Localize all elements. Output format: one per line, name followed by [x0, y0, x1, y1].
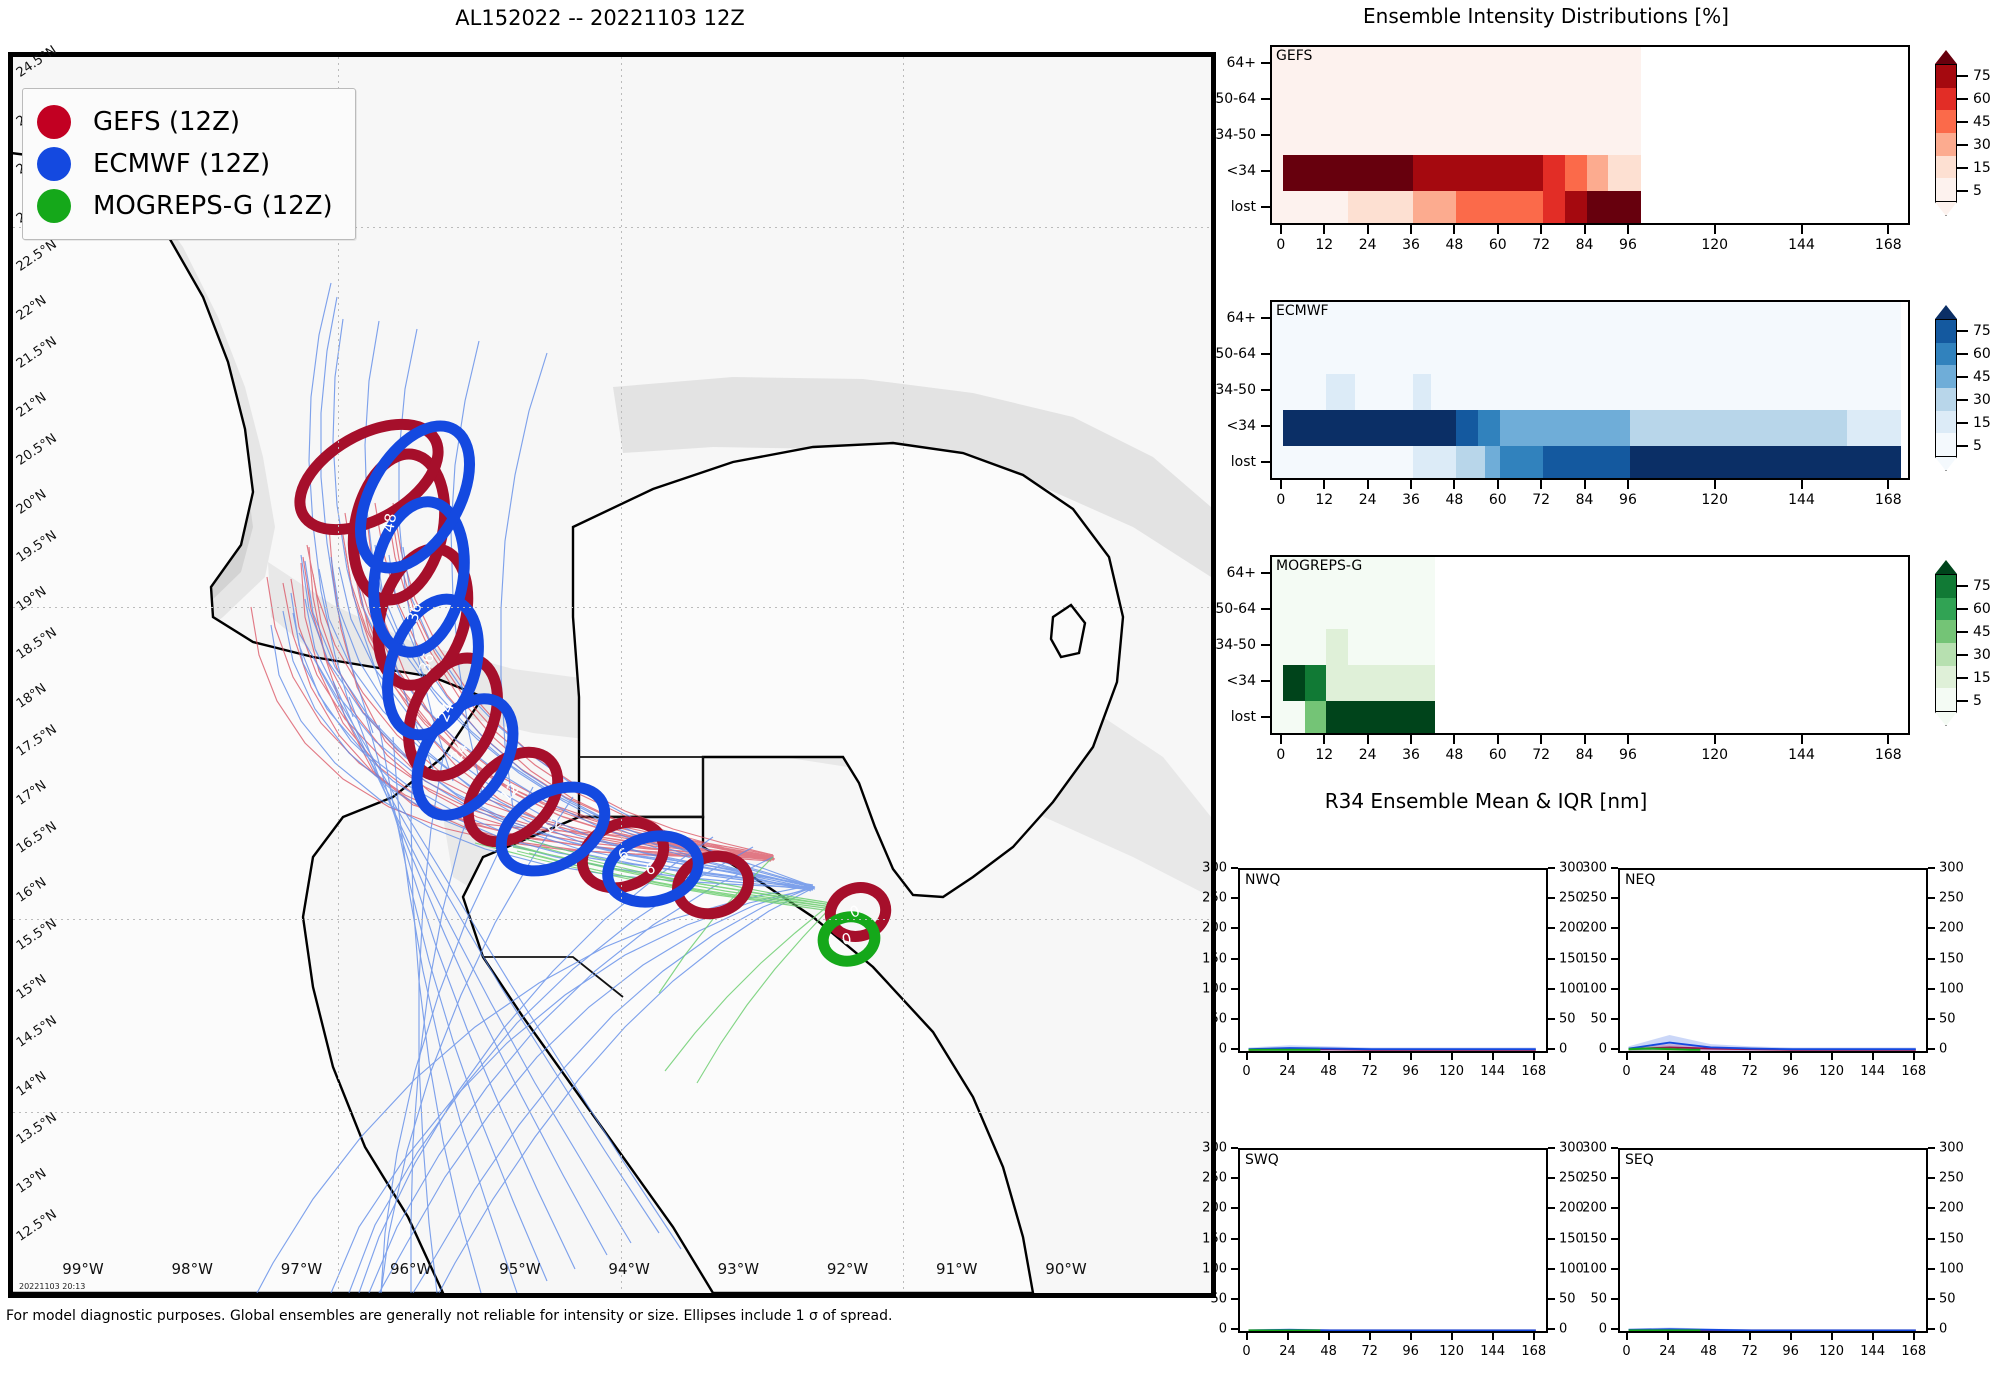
heatmap-cell — [1283, 155, 1326, 191]
colorbar-tick — [1957, 353, 1968, 355]
colorbar-segment — [1936, 620, 1956, 643]
r34-x-tick — [1708, 1053, 1710, 1060]
colorbar-segment — [1936, 411, 1956, 434]
x-axis-label: 48 — [1445, 747, 1463, 763]
x-axis-tick — [1410, 225, 1412, 234]
heatmap-cell — [1456, 446, 1485, 480]
r34-y-tick — [1611, 1298, 1618, 1300]
heatmap-cell — [1587, 410, 1630, 446]
r34-x-label: 48 — [1700, 1064, 1717, 1079]
colorbar-tick — [1957, 585, 1968, 587]
heatmap-cell — [1478, 410, 1500, 446]
map-gridline-horizontal — [13, 919, 1211, 920]
r34-y-label: 0 — [1559, 1042, 1567, 1057]
r34-y-label: 300 — [1559, 861, 1584, 876]
colorbar-gefs: 75604530155 — [1935, 50, 1995, 216]
heatmap-cell — [1348, 191, 1370, 225]
y-axis-tick — [1261, 206, 1270, 208]
r34-y-label: 300 — [1939, 1141, 1964, 1156]
r34-y-label: 200 — [1582, 921, 1607, 936]
r34-y-tick — [1928, 1207, 1935, 1209]
heatmap-cell — [1847, 410, 1901, 446]
x-axis-label: 12 — [1315, 237, 1333, 253]
r34-x-tick — [1626, 1333, 1628, 1340]
heatmap-cell — [1485, 446, 1499, 480]
r34-y-tick — [1928, 1238, 1935, 1240]
r34-y-label: 250 — [1202, 891, 1227, 906]
y-axis-label: <34 — [1226, 163, 1256, 179]
heatmap-cell — [1565, 155, 1587, 191]
colorbar-segment — [1936, 388, 1956, 411]
heatmap-cell — [1717, 410, 1804, 446]
y-axis-label: 64+ — [1226, 310, 1256, 326]
colorbar-segment — [1936, 65, 1956, 88]
r34-y-label: 50 — [1590, 1011, 1607, 1026]
r34-x-label: 120 — [1819, 1344, 1844, 1359]
r34-y-label: 0 — [1599, 1042, 1607, 1057]
x-axis-tick — [1280, 735, 1282, 744]
heatmap-cell — [1283, 410, 1326, 446]
x-axis-tick — [1410, 480, 1412, 489]
colorbar-segment — [1936, 88, 1956, 111]
heatmap-cell — [1337, 374, 1355, 410]
r34-y-tick — [1928, 988, 1935, 990]
panel-model-label: GEFS — [1276, 48, 1312, 64]
r34-y-label: 300 — [1202, 861, 1227, 876]
r34-x-label: 48 — [1700, 1344, 1717, 1359]
r34-x-label: 72 — [1361, 1344, 1378, 1359]
x-axis-label: 120 — [1701, 492, 1728, 508]
r34-y-label: 250 — [1559, 891, 1584, 906]
colorbar-segment — [1936, 365, 1956, 388]
map-lon-tick: 94°W — [608, 1260, 649, 1278]
colorbar-tick — [1957, 98, 1968, 100]
r34-y-label: 50 — [1939, 1291, 1956, 1306]
x-axis-label: 24 — [1359, 237, 1377, 253]
colorbar-mogreps-g: 75604530155 — [1935, 560, 1995, 726]
y-axis-tick — [1261, 680, 1270, 682]
r34-series-graphics — [1620, 870, 1926, 1051]
r34-quadrant-label: NEQ — [1625, 872, 1655, 888]
r34-y-label: 100 — [1939, 1261, 1964, 1276]
r34-y-tick — [1231, 1147, 1238, 1149]
r34-x-tick — [1451, 1333, 1453, 1340]
r34-y-tick — [1611, 988, 1618, 990]
r34-y-tick — [1231, 1177, 1238, 1179]
r34-x-tick — [1749, 1333, 1751, 1340]
panel-no-data-region — [1435, 557, 1910, 735]
heatmap-cell — [1587, 191, 1630, 225]
colorbar-tick — [1957, 399, 1968, 401]
y-axis-label: 50-64 — [1215, 346, 1256, 362]
r34-x-label: 48 — [1320, 1064, 1337, 1079]
r34-y-tick — [1548, 1018, 1555, 1020]
x-axis-tick — [1627, 735, 1629, 744]
r34-y-label: 50 — [1210, 1011, 1227, 1026]
r34-y-tick — [1611, 1207, 1618, 1209]
x-axis-label: 84 — [1576, 237, 1594, 253]
x-axis-tick — [1584, 480, 1586, 489]
colorbar-tick-label: 15 — [1973, 415, 1991, 431]
x-axis-label: 36 — [1402, 492, 1420, 508]
y-axis-label: <34 — [1226, 673, 1256, 689]
r34-y-label: 200 — [1582, 1201, 1607, 1216]
x-axis-tick — [1714, 735, 1716, 744]
y-axis-label: 34-50 — [1215, 127, 1256, 143]
colorbar-segment — [1936, 110, 1956, 133]
r34-x-label: 24 — [1279, 1064, 1296, 1079]
heatmap-cell — [1500, 155, 1543, 191]
map-lon-tick: 95°W — [499, 1260, 540, 1278]
r34-quadrant-label: SEQ — [1625, 1152, 1654, 1168]
x-axis-label: 168 — [1875, 237, 1902, 253]
r34-y-tick — [1548, 1207, 1555, 1209]
y-axis-label: 34-50 — [1215, 382, 1256, 398]
x-axis-label: 60 — [1489, 492, 1507, 508]
r34-y-tick — [1548, 1268, 1555, 1270]
x-axis-tick — [1627, 480, 1629, 489]
heatmap-cell — [1413, 374, 1431, 410]
r34-x-label: 168 — [1901, 1064, 1926, 1079]
x-axis-label: 48 — [1445, 492, 1463, 508]
x-axis-label: 120 — [1701, 237, 1728, 253]
y-axis-tick — [1261, 716, 1270, 718]
colorbar-tick-label: 5 — [1973, 693, 1982, 709]
r34-y-label: 250 — [1202, 1171, 1227, 1186]
x-axis-label: 144 — [1788, 492, 1815, 508]
r34-x-tick — [1872, 1053, 1874, 1060]
colorbar-tick — [1957, 608, 1968, 610]
x-axis-label: 96 — [1619, 237, 1637, 253]
map-lon-tick: 91°W — [936, 1260, 977, 1278]
map-graphics: 0 0 6 6 12 12 24 24 36 36 48 — [13, 57, 1211, 1293]
y-axis-tick — [1261, 317, 1270, 319]
r34-x-label: 0 — [1622, 1344, 1630, 1359]
x-axis-label: 144 — [1788, 237, 1815, 253]
r34-y-label: 300 — [1202, 1141, 1227, 1156]
r34-x-tick — [1492, 1333, 1494, 1340]
colorbar-segment — [1936, 643, 1956, 666]
r34-y-label: 100 — [1202, 981, 1227, 996]
r34-x-label: 0 — [1242, 1344, 1250, 1359]
map-lon-tick: 92°W — [827, 1260, 868, 1278]
x-axis-tick — [1367, 735, 1369, 744]
heatmap-cell — [1804, 410, 1847, 446]
mogreps-color-swatch — [37, 189, 71, 223]
colorbar-segment — [1936, 598, 1956, 621]
r34-series-graphics — [1240, 1150, 1546, 1331]
r34-panel-neq[interactable]: NEQ — [1618, 868, 1928, 1053]
x-axis-label: 12 — [1315, 492, 1333, 508]
model-legend[interactable]: GEFS (12Z) ECMWF (12Z) MOGREPS-G (12Z) — [22, 88, 356, 240]
r34-x-label: 72 — [1741, 1064, 1758, 1079]
colorbar-ecmwf: 75604530155 — [1935, 305, 1995, 471]
heatmap-cell — [1456, 191, 1499, 225]
r34-x-label: 120 — [1439, 1344, 1464, 1359]
r34-series-graphics — [1240, 870, 1546, 1051]
x-axis-label: 24 — [1359, 492, 1377, 508]
r34-x-tick — [1369, 1053, 1371, 1060]
colorbar-segment — [1936, 320, 1956, 343]
r34-y-tick — [1231, 1298, 1238, 1300]
heatmap-cell — [1326, 629, 1348, 665]
legend-item-gefs[interactable]: GEFS (12Z) — [37, 101, 333, 143]
r34-x-label: 144 — [1480, 1064, 1505, 1079]
heatmap-cell — [1500, 410, 1543, 446]
r34-x-label: 96 — [1402, 1064, 1419, 1079]
r34-y-tick — [1231, 988, 1238, 990]
r34-y-label: 200 — [1202, 921, 1227, 936]
r34-y-tick — [1928, 1177, 1935, 1179]
map-lon-tick: 97°W — [281, 1260, 322, 1278]
map-lon-tick: 98°W — [172, 1260, 213, 1278]
colorbar-min-arrow — [1935, 202, 1957, 216]
colorbar-tick-label: 60 — [1973, 91, 1991, 107]
x-axis-label: 48 — [1445, 237, 1463, 253]
intensity-panel-ecmwf[interactable]: ECMWF — [1270, 300, 1910, 480]
r34-x-label: 144 — [1480, 1344, 1505, 1359]
x-axis-label: 0 — [1276, 492, 1285, 508]
x-axis-tick — [1801, 735, 1803, 744]
r34-y-tick — [1231, 1018, 1238, 1020]
heatmap-cell — [1587, 155, 1609, 191]
r34-y-tick — [1231, 958, 1238, 960]
r34-y-tick — [1611, 1177, 1618, 1179]
r34-x-label: 168 — [1901, 1344, 1926, 1359]
r34-y-tick — [1611, 1147, 1618, 1149]
r34-y-tick — [1928, 1298, 1935, 1300]
r34-y-label: 0 — [1939, 1322, 1947, 1337]
x-axis-tick — [1887, 225, 1889, 234]
x-axis-label: 60 — [1489, 237, 1507, 253]
r34-series-graphics — [1620, 1150, 1926, 1331]
r34-y-label: 200 — [1202, 1201, 1227, 1216]
x-axis-tick — [1280, 225, 1282, 234]
svg-text:48: 48 — [379, 512, 400, 534]
legend-item-ecmwf[interactable]: ECMWF (12Z) — [37, 143, 333, 185]
y-axis-label: 50-64 — [1215, 91, 1256, 107]
colorbar-segment — [1936, 343, 1956, 366]
legend-label-mogreps: MOGREPS-G (12Z) — [93, 191, 333, 221]
colorbar-max-arrow — [1935, 50, 1957, 64]
r34-y-tick — [1548, 1328, 1555, 1330]
r34-y-label: 150 — [1202, 951, 1227, 966]
colorbar-tick — [1957, 677, 1968, 679]
r34-y-tick — [1231, 1207, 1238, 1209]
r34-x-tick — [1790, 1053, 1792, 1060]
y-axis-tick — [1261, 353, 1270, 355]
r34-y-label: 250 — [1939, 1171, 1964, 1186]
heatmap-cell — [1326, 191, 1348, 225]
r34-panel-seq[interactable]: SEQ — [1618, 1148, 1928, 1333]
y-axis-label: 50-64 — [1215, 601, 1256, 617]
x-axis-label: 84 — [1576, 747, 1594, 763]
r34-x-label: 24 — [1659, 1344, 1676, 1359]
x-axis-label: 168 — [1875, 492, 1902, 508]
r34-x-tick — [1913, 1053, 1915, 1060]
r34-y-tick — [1611, 897, 1618, 899]
x-axis-tick — [1714, 480, 1716, 489]
y-axis-tick — [1261, 98, 1270, 100]
x-axis-label: 120 — [1701, 747, 1728, 763]
r34-x-label: 72 — [1741, 1344, 1758, 1359]
r34-y-tick — [1928, 1147, 1935, 1149]
r34-x-label: 72 — [1361, 1064, 1378, 1079]
colorbar-tick — [1957, 445, 1968, 447]
r34-x-label: 24 — [1279, 1344, 1296, 1359]
y-axis-tick — [1261, 389, 1270, 391]
intensity-panel-gefs[interactable]: GEFS — [1270, 45, 1910, 225]
r34-y-label: 50 — [1590, 1291, 1607, 1306]
r34-y-tick — [1928, 867, 1935, 869]
panel-no-data-region — [1901, 302, 1910, 480]
heatmap-cell — [1413, 410, 1456, 446]
page-title: AL152022 -- 20221103 12Z — [455, 6, 744, 30]
r34-y-tick — [1928, 1018, 1935, 1020]
x-axis-tick — [1584, 225, 1586, 234]
r34-y-tick — [1611, 1328, 1618, 1330]
r34-x-label: 96 — [1782, 1344, 1799, 1359]
r34-x-label: 144 — [1860, 1344, 1885, 1359]
r34-quadrant-label: SWQ — [1245, 1152, 1279, 1168]
r34-x-tick — [1287, 1053, 1289, 1060]
r34-y-label: 300 — [1582, 861, 1607, 876]
legend-item-mogreps[interactable]: MOGREPS-G (12Z) — [37, 185, 333, 227]
x-axis-tick — [1497, 225, 1499, 234]
r34-x-label: 0 — [1622, 1064, 1630, 1079]
y-axis-tick — [1261, 170, 1270, 172]
r34-y-tick — [1928, 897, 1935, 899]
x-axis-tick — [1323, 735, 1325, 744]
map-lon-tick: 99°W — [62, 1260, 103, 1278]
x-axis-tick — [1367, 225, 1369, 234]
r34-x-label: 96 — [1782, 1064, 1799, 1079]
r34-y-label: 0 — [1599, 1322, 1607, 1337]
x-axis-label: 84 — [1576, 492, 1594, 508]
r34-y-tick — [1611, 1238, 1618, 1240]
map-lon-tick: 90°W — [1045, 1260, 1086, 1278]
r34-x-tick — [1410, 1053, 1412, 1060]
colorbar-max-arrow — [1935, 560, 1957, 574]
r34-panel-nwq[interactable]: NWQ — [1238, 868, 1548, 1053]
r34-y-tick — [1928, 927, 1935, 929]
r34-y-label: 300 — [1939, 861, 1964, 876]
x-axis-label: 0 — [1276, 237, 1285, 253]
x-axis-label: 72 — [1532, 237, 1550, 253]
r34-y-label: 100 — [1559, 1261, 1584, 1276]
x-axis-label: 0 — [1276, 747, 1285, 763]
r34-x-tick — [1790, 1333, 1792, 1340]
colorbar-tick — [1957, 654, 1968, 656]
map-render-timestamp: 20221103 20:13 — [19, 1282, 85, 1291]
colorbar-tick — [1957, 330, 1968, 332]
colorbar-tick-label: 45 — [1973, 624, 1991, 640]
r34-y-label: 250 — [1939, 891, 1964, 906]
heatmap-cell — [1630, 191, 1641, 225]
r34-x-label: 144 — [1860, 1064, 1885, 1079]
colorbar-segment — [1936, 178, 1956, 201]
heatmap-cell — [1413, 446, 1456, 480]
r34-y-tick — [1231, 927, 1238, 929]
r34-y-label: 200 — [1939, 1201, 1964, 1216]
panel-model-label: ECMWF — [1276, 303, 1329, 319]
heatmap-cell — [1543, 191, 1565, 225]
r34-x-tick — [1410, 1333, 1412, 1340]
r34-y-label: 150 — [1202, 1231, 1227, 1246]
r34-y-tick — [1231, 1328, 1238, 1330]
r34-y-tick — [1548, 927, 1555, 929]
map-gridline-vertical — [903, 57, 904, 1293]
r34-panel-swq[interactable]: SWQ — [1238, 1148, 1548, 1333]
x-axis-tick — [1584, 735, 1586, 744]
y-axis-tick — [1261, 644, 1270, 646]
r34-x-label: 24 — [1659, 1064, 1676, 1079]
colorbar-segment — [1936, 688, 1956, 711]
x-axis-tick — [1453, 480, 1455, 489]
map-gridline-horizontal — [13, 1112, 1211, 1113]
r34-x-tick — [1626, 1053, 1628, 1060]
legend-label-ecmwf: ECMWF (12Z) — [93, 149, 270, 179]
y-axis-tick — [1261, 62, 1270, 64]
r34-x-tick — [1872, 1333, 1874, 1340]
r34-x-label: 48 — [1320, 1344, 1337, 1359]
r34-y-label: 150 — [1559, 1231, 1584, 1246]
r34-x-tick — [1369, 1333, 1371, 1340]
r34-y-tick — [1611, 1018, 1618, 1020]
colorbar-tick — [1957, 167, 1968, 169]
heatmap-cell — [1565, 191, 1587, 225]
r34-y-tick — [1928, 1328, 1935, 1330]
colorbar-max-arrow — [1935, 305, 1957, 319]
r34-y-tick — [1231, 1238, 1238, 1240]
y-axis-label: 64+ — [1226, 565, 1256, 581]
x-axis-tick — [1323, 225, 1325, 234]
r34-y-label: 250 — [1582, 1171, 1607, 1186]
r34-y-tick — [1611, 1268, 1618, 1270]
r34-x-label: 96 — [1402, 1344, 1419, 1359]
panel-no-data-region — [1641, 47, 1910, 225]
x-axis-tick — [1887, 735, 1889, 744]
r34-x-tick — [1667, 1053, 1669, 1060]
heatmap-cell — [1456, 155, 1499, 191]
r34-y-tick — [1611, 958, 1618, 960]
r34-y-label: 150 — [1582, 951, 1607, 966]
r34-x-tick — [1492, 1053, 1494, 1060]
colorbar-tick-label: 75 — [1973, 323, 1991, 339]
r34-y-tick — [1548, 958, 1555, 960]
colorbar-min-arrow — [1935, 457, 1957, 471]
colorbar-tick — [1957, 631, 1968, 633]
colorbar-tick — [1957, 121, 1968, 123]
r34-x-tick — [1708, 1333, 1710, 1340]
r34-x-label: 168 — [1521, 1344, 1546, 1359]
x-axis-tick — [1540, 480, 1542, 489]
r34-y-label: 300 — [1582, 1141, 1607, 1156]
intensity-panel-mogreps-g[interactable]: MOGREPS-G — [1270, 555, 1910, 735]
colorbar-tick-label: 30 — [1973, 647, 1991, 663]
colorbar-tick — [1957, 75, 1968, 77]
heatmap-cell — [1370, 191, 1413, 225]
colorbar-tick — [1957, 376, 1968, 378]
r34-y-tick — [1231, 897, 1238, 899]
colorbar-segment — [1936, 133, 1956, 156]
heatmap-cell — [1413, 155, 1456, 191]
colorbar-segment — [1936, 666, 1956, 689]
r34-x-tick — [1328, 1333, 1330, 1340]
r34-y-tick — [1231, 867, 1238, 869]
colorbar-segment — [1936, 433, 1956, 456]
colorbar-tick-label: 45 — [1973, 114, 1991, 130]
